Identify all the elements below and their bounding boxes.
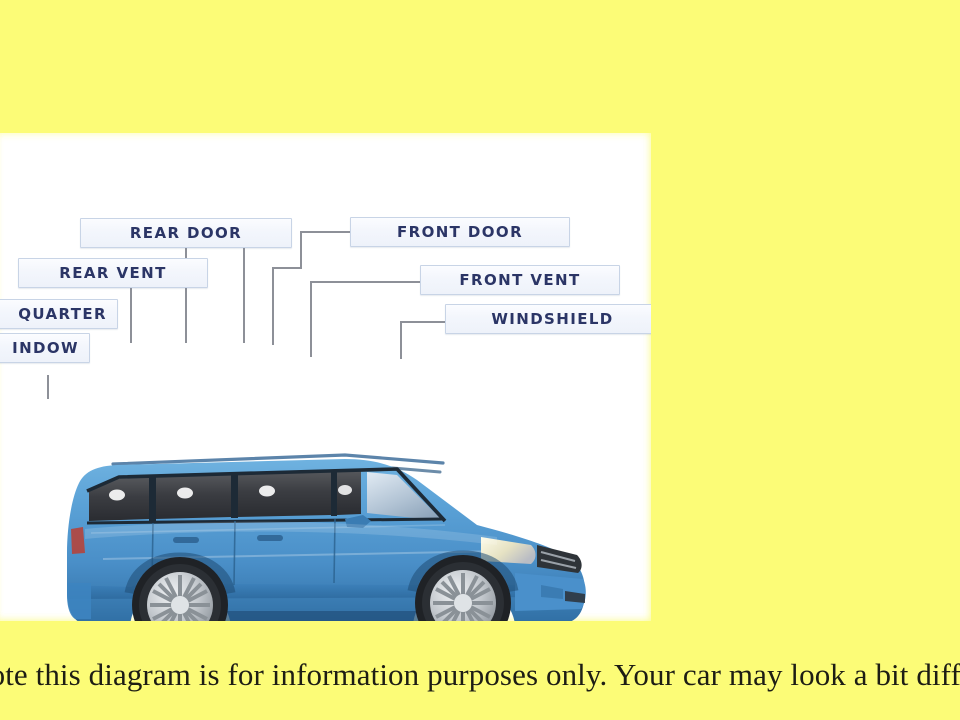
rim-front-hub (454, 594, 472, 612)
pillar-c (149, 475, 156, 521)
leader-line-windshield-h (400, 321, 445, 323)
pillar-b (231, 472, 238, 518)
glass-highlight-2 (177, 488, 193, 499)
leader-line-front-vent-v (310, 281, 312, 357)
rear-door-glass (155, 474, 231, 519)
glass-highlight-3 (259, 486, 275, 497)
caption-text: note this diagram is for information pur… (0, 653, 960, 697)
leader-line-rear-vent (130, 285, 132, 343)
tail-light (71, 527, 85, 554)
rim-rear-hub (171, 596, 189, 614)
label-front-vent-text: FRONT VENT (459, 271, 580, 289)
label-rear-vent[interactable]: REAR VENT (18, 258, 208, 288)
label-rear-door[interactable]: REAR DOOR (80, 218, 292, 248)
label-windshield[interactable]: WINDSHIELD (445, 304, 651, 334)
label-windshield-text: WINDSHIELD (491, 310, 613, 328)
label-quarter-text: QUARTER (18, 305, 107, 323)
door-handle-rear (173, 537, 199, 543)
label-front-vent[interactable]: FRONT VENT (420, 265, 620, 295)
label-quarter[interactable]: QUARTER (0, 299, 118, 329)
diagram-panel: REAR DOOR REAR VENT QUARTER INDOW FRONT … (0, 133, 651, 621)
front-door-glass (237, 471, 331, 517)
label-window[interactable]: INDOW (0, 333, 90, 363)
label-front-door[interactable]: FRONT DOOR (350, 217, 570, 247)
pillar-a-vent (331, 471, 337, 516)
label-front-door-text: FRONT DOOR (397, 223, 523, 241)
slide-canvas: REAR DOOR REAR VENT QUARTER INDOW FRONT … (0, 0, 960, 720)
vehicle-illustration (45, 433, 600, 621)
door-handle-front (257, 535, 283, 541)
glass-highlight-4 (338, 485, 352, 495)
leader-line-front-vent-h (310, 281, 420, 283)
label-window-text: INDOW (12, 339, 79, 357)
leader-line-quarter (47, 375, 49, 399)
leader-line-windshield-v (400, 321, 402, 359)
leader-line-front-door-h2 (272, 267, 302, 269)
rear-bumper (67, 583, 91, 619)
leader-line-front-door-h1 (300, 231, 350, 233)
leader-line-front-door-v1 (300, 231, 302, 269)
label-rear-door-text: REAR DOOR (130, 224, 242, 242)
label-rear-vent-text: REAR VENT (59, 264, 166, 282)
leader-line-front-door-v2 (272, 267, 274, 345)
glass-highlight-1 (109, 490, 125, 501)
